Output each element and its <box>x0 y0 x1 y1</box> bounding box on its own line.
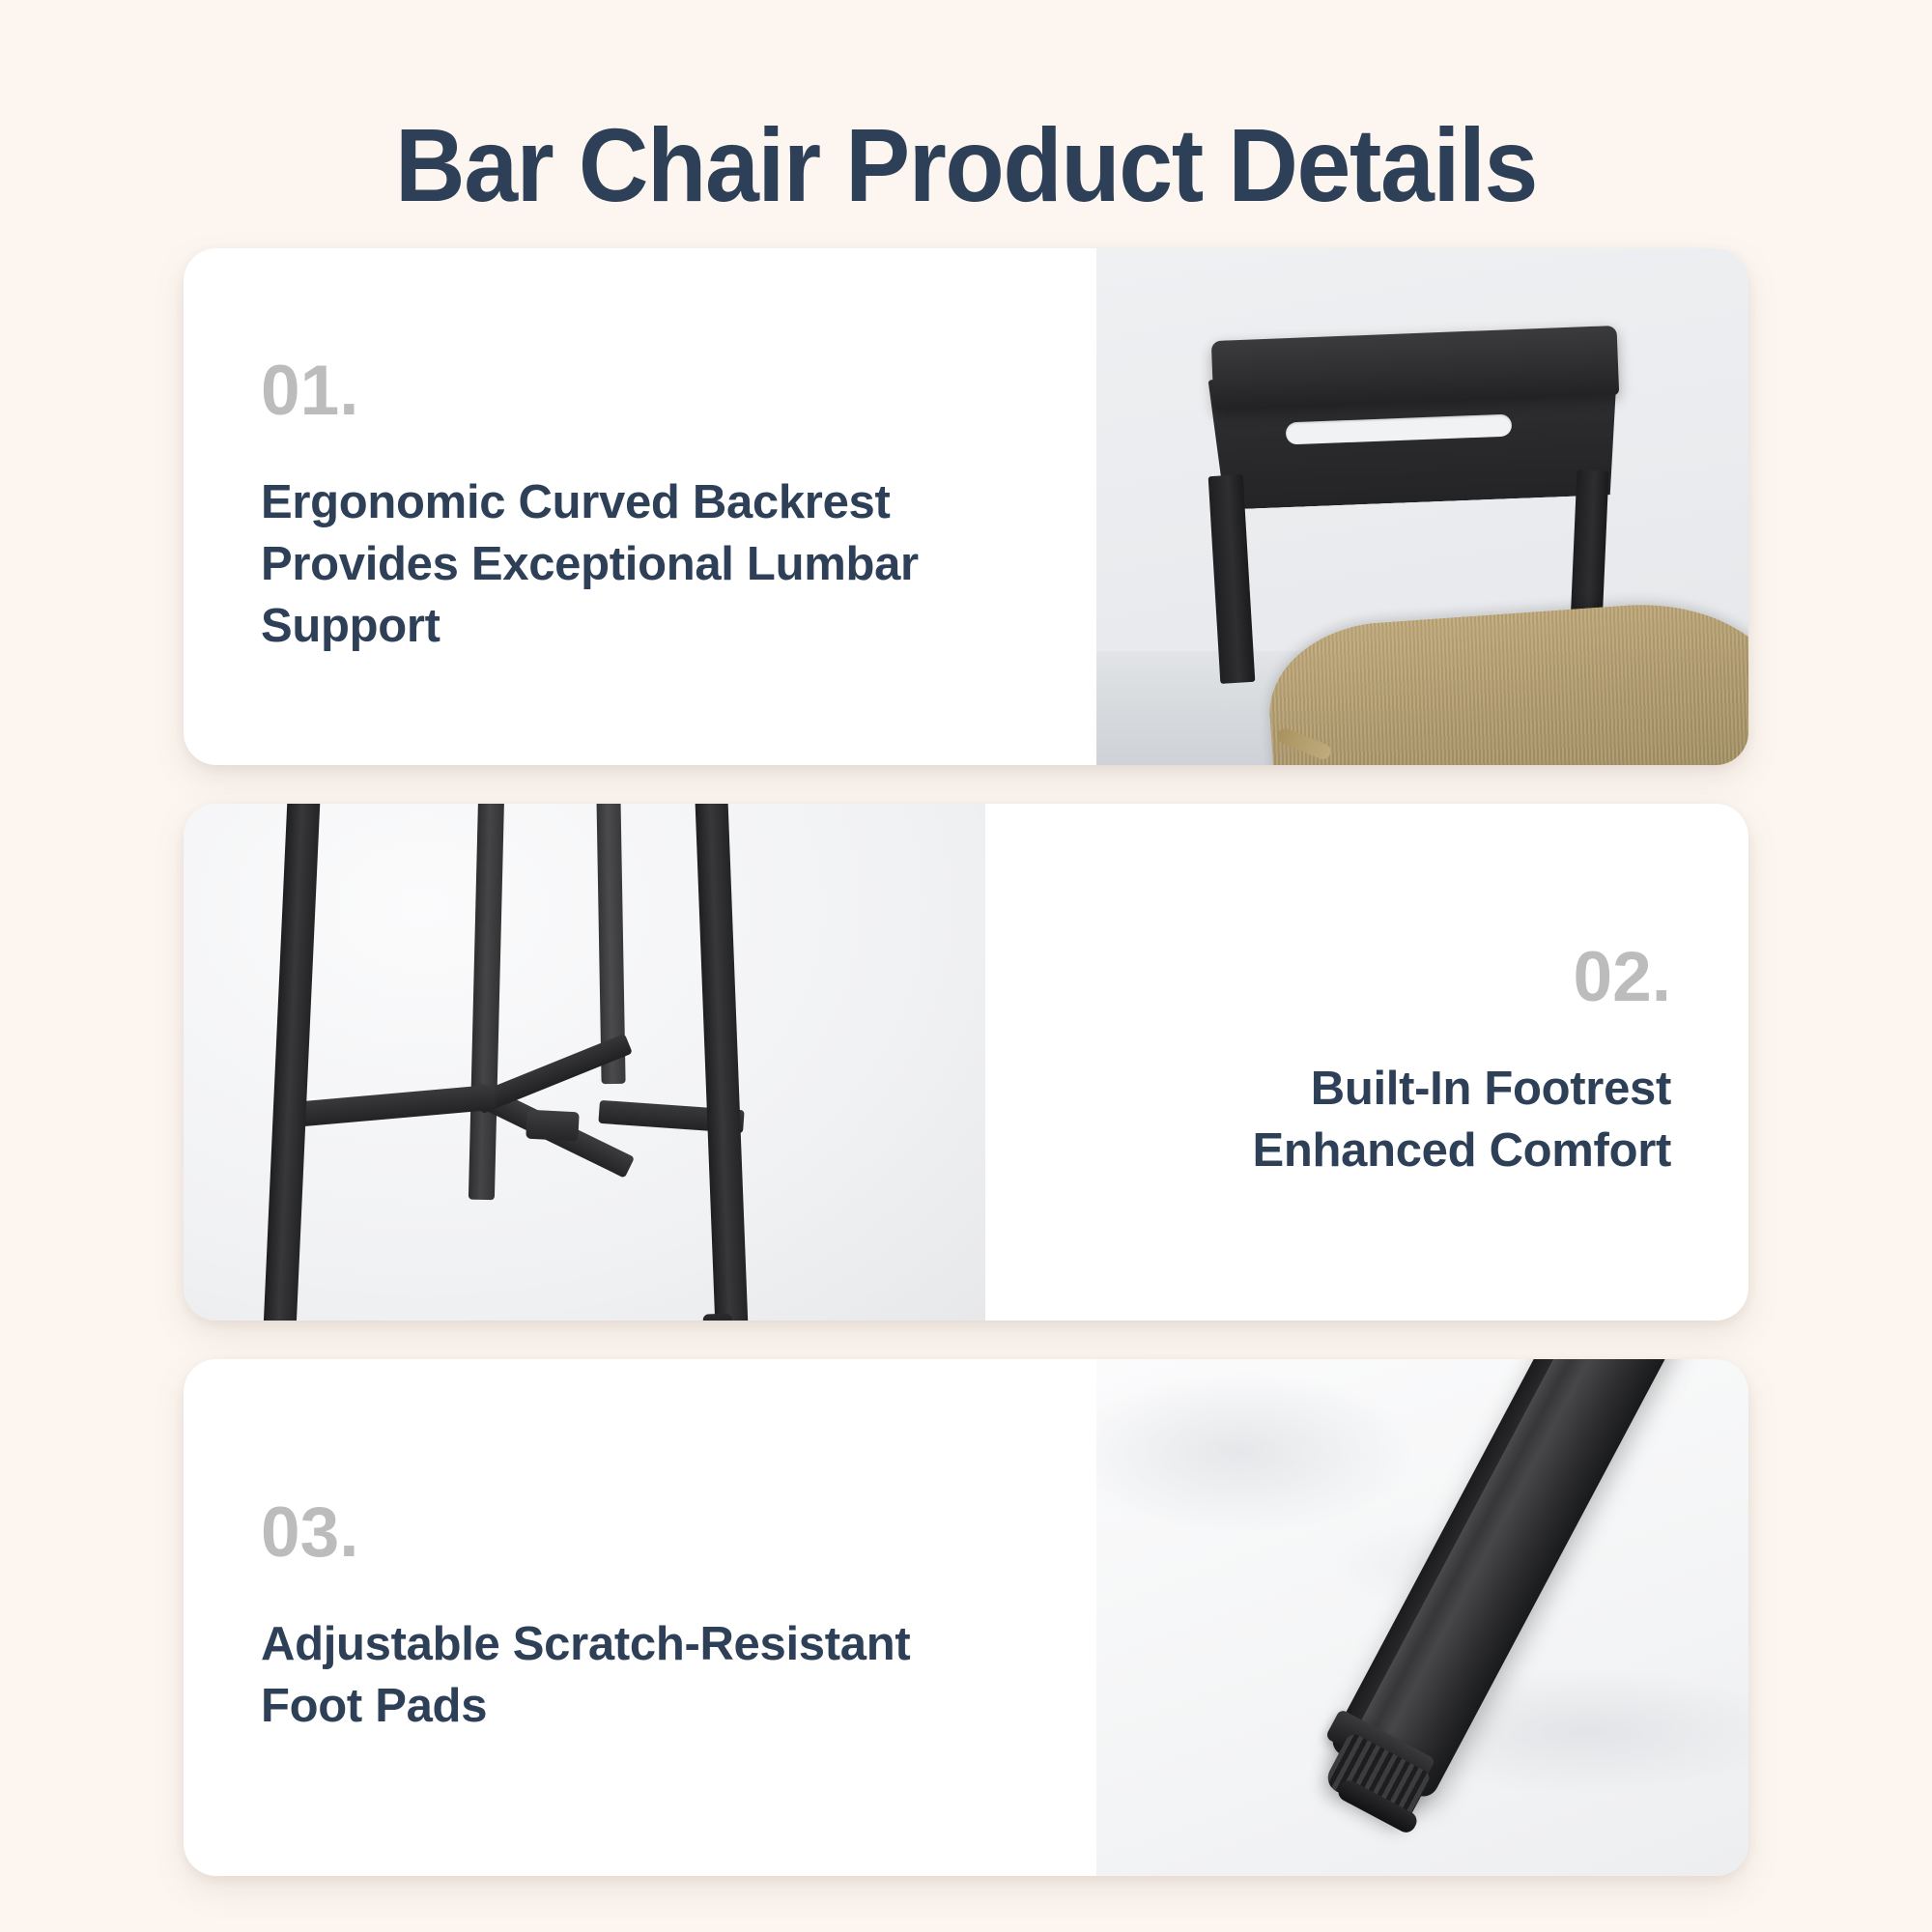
footrest-photo <box>184 804 985 1321</box>
backrest-post-right <box>1571 469 1609 625</box>
headline-line: Provides Exceptional Lumbar <box>261 534 919 596</box>
feature-number-2: 02. <box>1574 942 1671 1012</box>
foot-cap-right <box>703 1313 733 1321</box>
feature-card-3: 03. Adjustable Scratch-Resistant Foot Pa… <box>184 1359 1748 1876</box>
infographic-page: Bar Chair Product Details 01. Ergonomic … <box>0 0 1932 1932</box>
feature-headline-1: Ergonomic Curved Backrest Provides Excep… <box>261 472 919 657</box>
feature-number-1: 01. <box>261 355 358 426</box>
foot-pad-photo <box>1096 1359 1748 1876</box>
feature-headline-2: Built-In Footrest Enhanced Comfort <box>1253 1059 1672 1181</box>
headline-line: Enhanced Comfort <box>1253 1121 1672 1182</box>
feature-number-3: 03. <box>261 1497 358 1568</box>
feature-card-1: 01. Ergonomic Curved Backrest Provides E… <box>184 248 1748 765</box>
feature-image-1 <box>1096 248 1748 765</box>
feature-image-3 <box>1096 1359 1748 1876</box>
seat-cushion <box>1264 595 1748 765</box>
feature-card-2: 02. Built-In Footrest Enhanced Comfort <box>184 804 1748 1321</box>
feature-text-pane-2: 02. Built-In Footrest Enhanced Comfort <box>985 804 1748 1321</box>
headline-line: Foot Pads <box>261 1676 910 1738</box>
backrest-photo <box>1096 248 1748 765</box>
headline-line: Built-In Footrest <box>1253 1059 1672 1121</box>
headline-line: Support <box>261 596 919 658</box>
feature-image-2 <box>184 804 985 1321</box>
feature-text-pane-1: 01. Ergonomic Curved Backrest Provides E… <box>184 248 1096 765</box>
feature-headline-3: Adjustable Scratch-Resistant Foot Pads <box>261 1614 910 1737</box>
footrest-center-plate <box>526 1110 579 1142</box>
page-title: Bar Chair Product Details <box>68 108 1864 223</box>
headline-line: Adjustable Scratch-Resistant <box>261 1614 910 1676</box>
headline-line: Ergonomic Curved Backrest <box>261 472 919 534</box>
feature-text-pane-3: 03. Adjustable Scratch-Resistant Foot Pa… <box>184 1359 1096 1876</box>
